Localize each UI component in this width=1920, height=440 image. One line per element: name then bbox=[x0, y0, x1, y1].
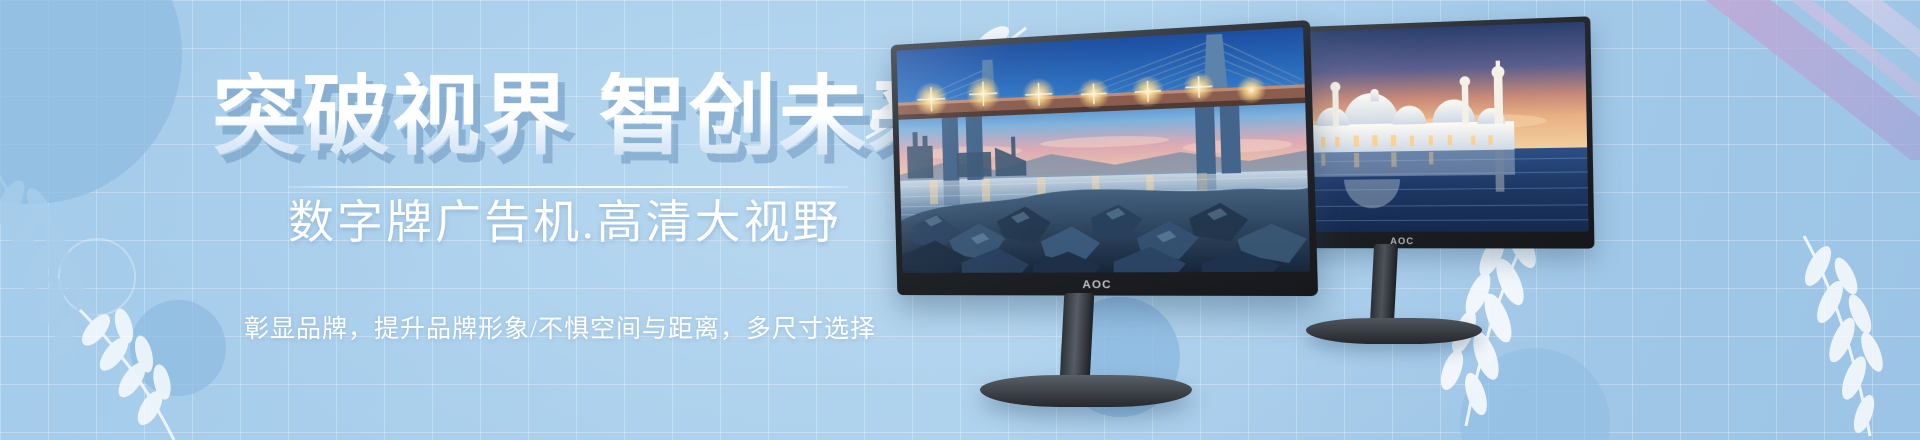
promo-banner: 突破视界 智创未来 数字牌广告机.高清大视野 彰显品牌，提升品牌形象/不惧空间与… bbox=[0, 0, 1920, 440]
monitor-screen-bridge bbox=[897, 27, 1311, 273]
product-images: AOC bbox=[880, 0, 1920, 440]
monitor-bezel: AOC bbox=[891, 20, 1319, 296]
brand-logo-front: AOC bbox=[897, 278, 1318, 291]
headline: 突破视界 智创未来 bbox=[212, 72, 958, 160]
tagline: 彰显品牌，提升品牌形象/不惧空间与距离，多尺寸选择 bbox=[244, 312, 876, 347]
monitor-stand-base bbox=[980, 375, 1192, 407]
divider-rule bbox=[288, 186, 848, 188]
copy-block: 突破视界 智创未来 数字牌广告机.高清大视野 彰显品牌，提升品牌形象/不惧空间与… bbox=[0, 0, 900, 440]
monitor-stand-neck bbox=[1060, 293, 1095, 381]
monitor-stand-neck bbox=[1370, 244, 1398, 324]
monitor-stand-base bbox=[1306, 318, 1482, 344]
subheadline: 数字牌广告机.高清大视野 bbox=[288, 192, 842, 254]
monitor-front: AOC bbox=[880, 45, 1310, 405]
